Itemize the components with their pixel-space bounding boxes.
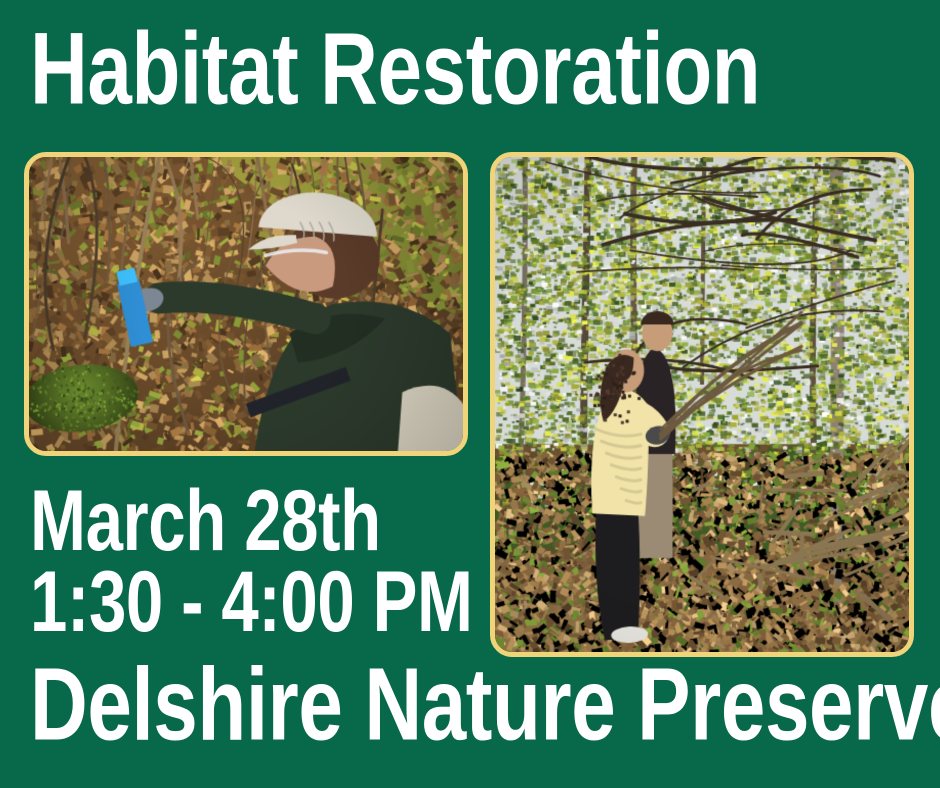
event-location: Delshire Nature Preserve <box>30 653 940 756</box>
photo-left-volunteer-herbicide: Volunteer in a white baseball cap, safet… <box>24 152 468 456</box>
page-title: Habitat Restoration <box>30 18 760 120</box>
photo-right-image <box>495 157 909 652</box>
event-time: 1:30 - 4:00 PM <box>30 558 473 645</box>
event-flyer: Habitat Restoration Volunteer in a white… <box>0 0 940 788</box>
event-date: March 28th <box>30 477 381 564</box>
photo-left-image <box>29 157 463 451</box>
photo-right-volunteers-brush: Two volunteers on an autumn wooded hills… <box>490 152 914 657</box>
